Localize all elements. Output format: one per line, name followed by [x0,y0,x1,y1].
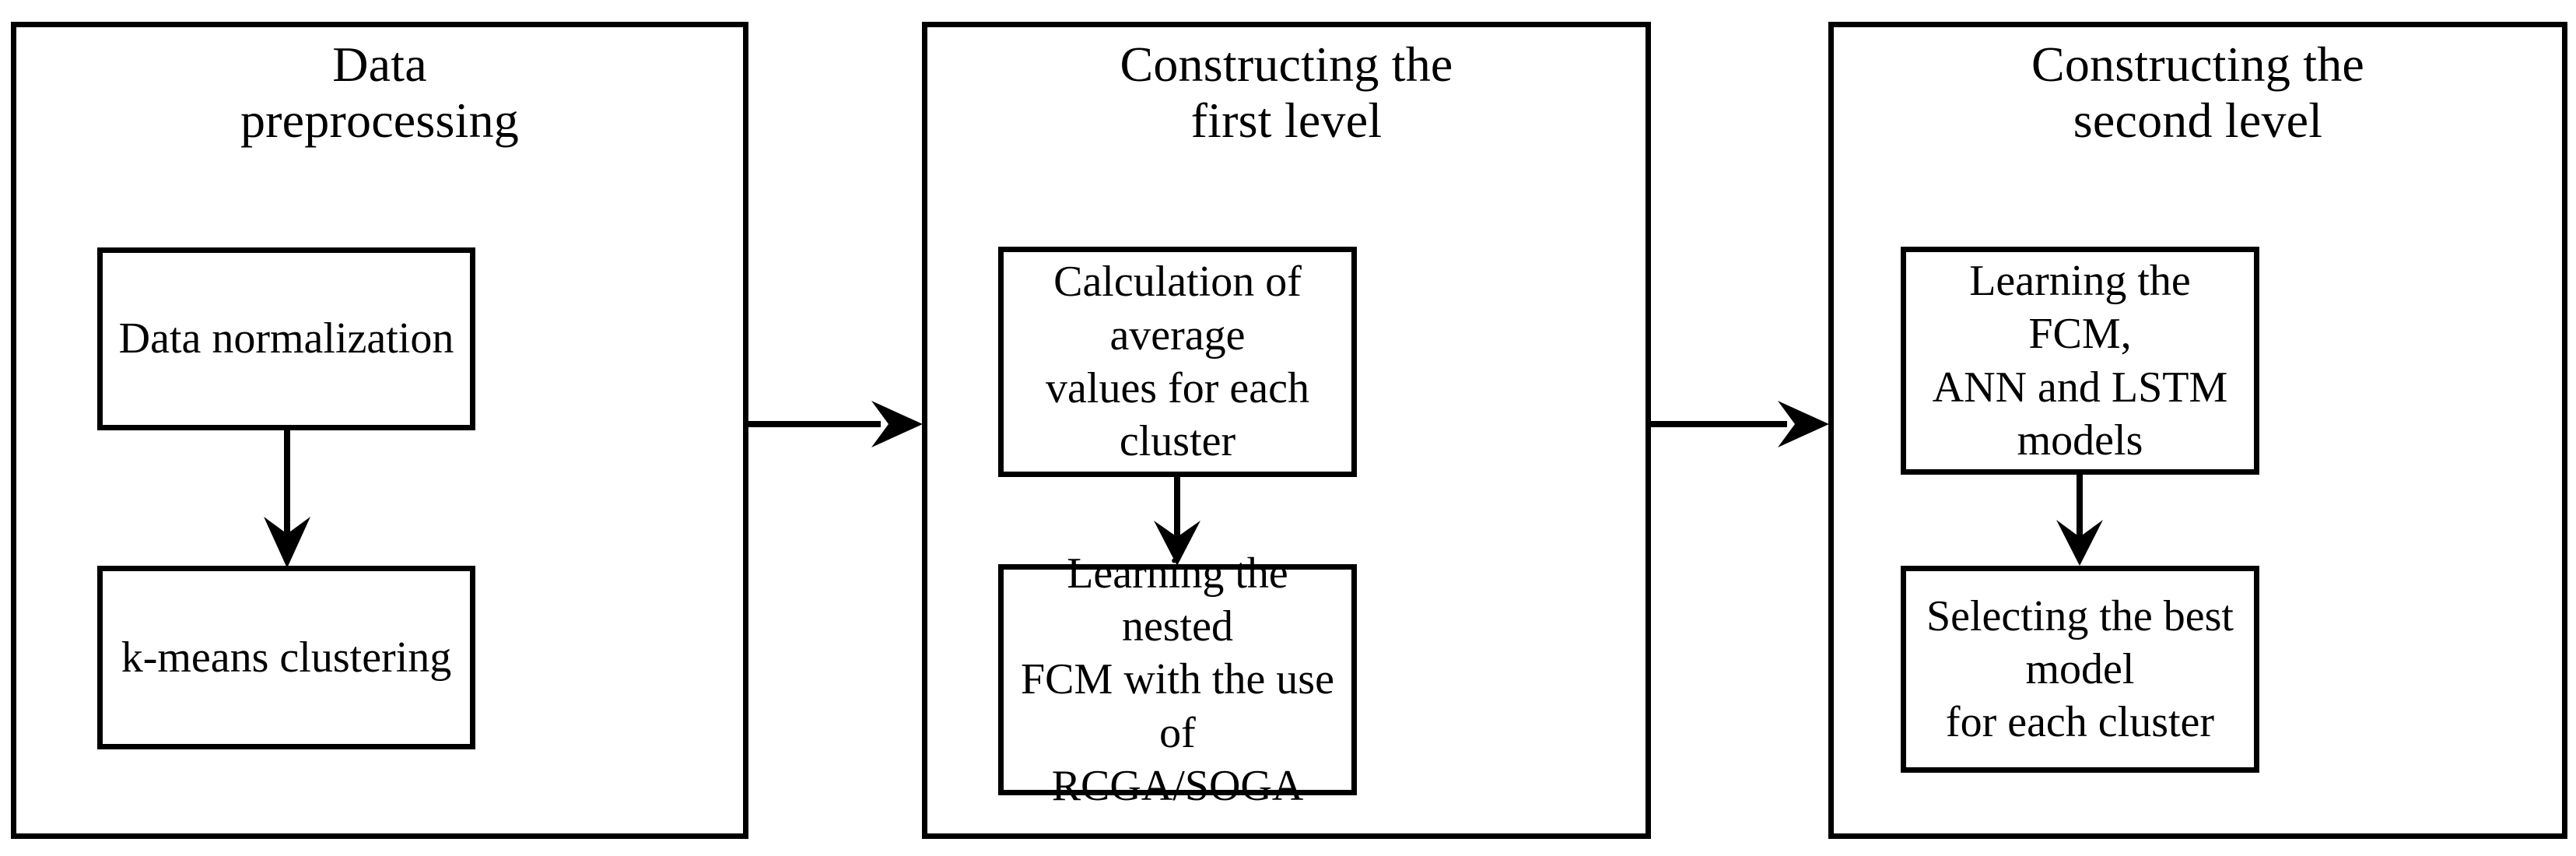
step-label-learning-nested-fcm: Learning the nested FCM with the use of … [1004,547,1351,813]
flowchart-diagram: Data preprocessing Data normalization k-… [0,0,2576,856]
panel-title-constructing-second-level: Constructing the second level [1834,37,2562,148]
right-arrow-icon-panel2-to-panel3 [1651,389,1829,459]
step-label-calculation-of-average-values: Calculation of average values for each c… [1004,255,1351,468]
step-label-selecting-best-model: Selecting the best model for each cluste… [1906,590,2254,749]
step-box-selecting-best-model: Selecting the best model for each cluste… [1901,566,2259,773]
step-label-learning-fcm-ann-lstm: Learning the FCM, ANN and LSTM models [1906,254,2254,467]
step-label-k-means-clustering: k-means clustering [114,631,460,684]
down-arrow-icon-panel1 [252,430,322,568]
step-box-learning-fcm-ann-lstm: Learning the FCM, ANN and LSTM models [1901,247,2259,475]
step-box-k-means-clustering: k-means clustering [97,566,475,749]
panel-title-constructing-first-level: Constructing the first level [927,37,1645,148]
right-arrow-icon-panel1-to-panel2 [748,389,923,459]
step-box-learning-nested-fcm: Learning the nested FCM with the use of … [998,564,1357,795]
down-arrow-icon-panel3 [2045,475,2115,566]
step-box-calculation-of-average-values: Calculation of average values for each c… [998,247,1357,477]
panel-title-data-preprocessing: Data preprocessing [16,37,743,148]
step-box-data-normalization: Data normalization [97,247,475,430]
step-label-data-normalization: Data normalization [111,312,462,365]
